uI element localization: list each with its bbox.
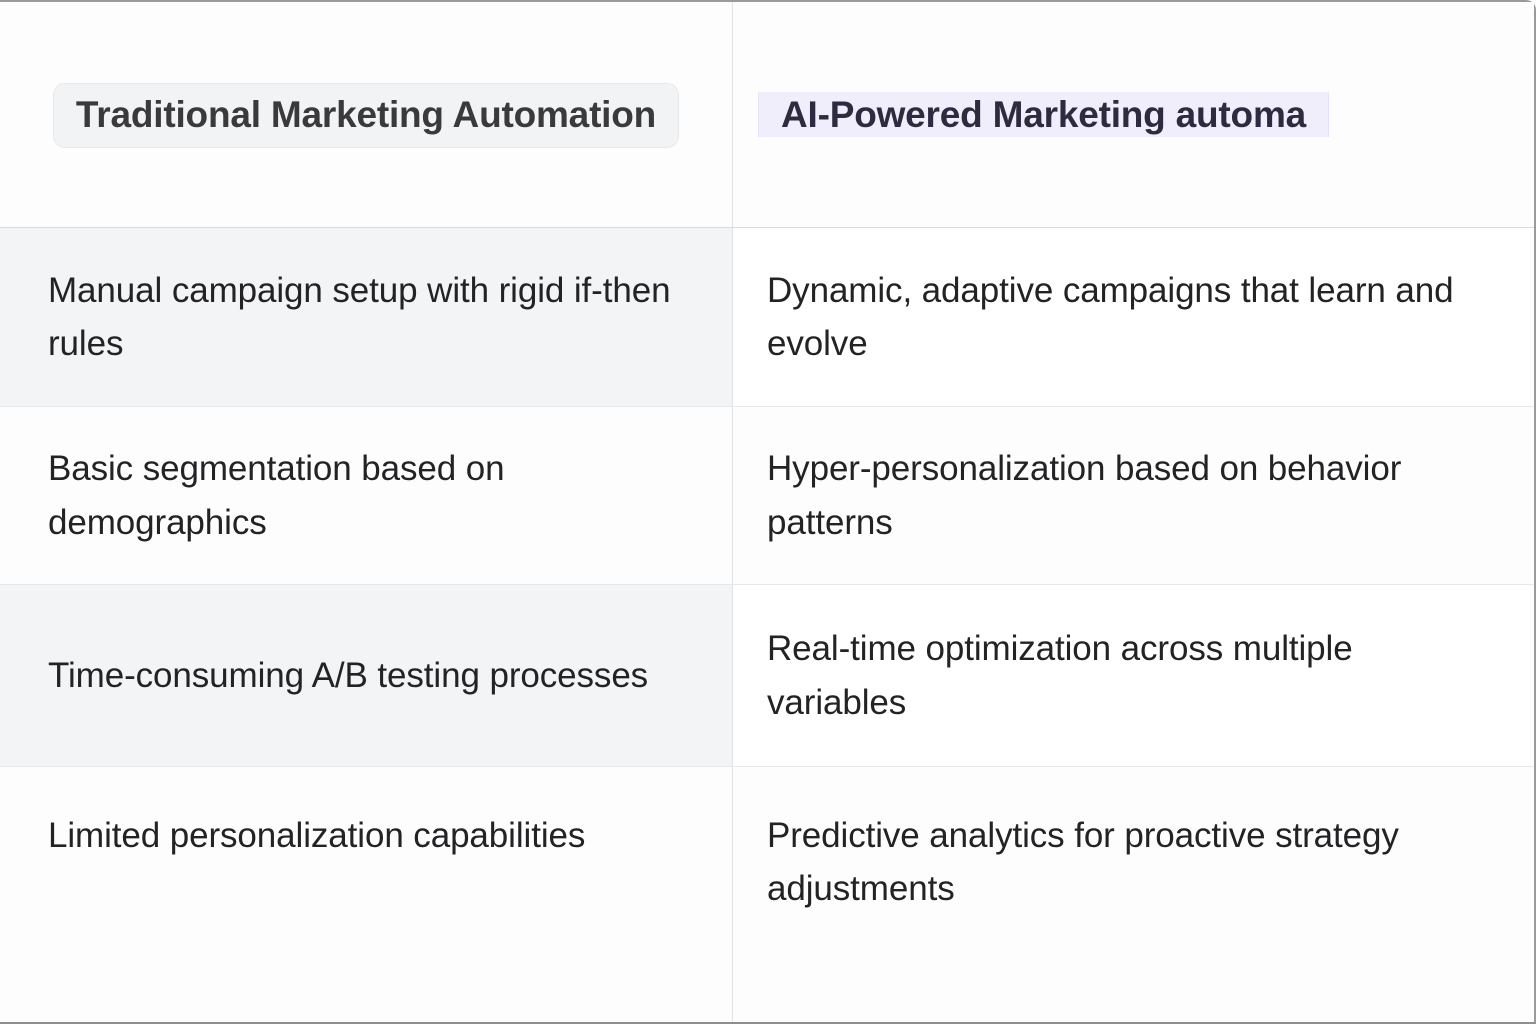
traditional-header-badge: Traditional Marketing Automation <box>54 84 678 147</box>
table-cell-traditional: Time-consuming A/B testing processes <box>0 585 733 766</box>
cell-text: Manual campaign setup with rigid if-then… <box>48 264 692 370</box>
table-body: Manual campaign setup with rigid if-then… <box>0 228 1534 1022</box>
cell-text: Basic segmentation based on demographics <box>48 442 692 548</box>
table-row: Manual campaign setup with rigid if-then… <box>0 228 1534 407</box>
comparison-table: Traditional Marketing Automation AI-Powe… <box>0 0 1536 1024</box>
cell-text: Real-time optimization across multiple v… <box>767 622 1494 728</box>
table-header-row: Traditional Marketing Automation AI-Powe… <box>0 2 1534 228</box>
table-cell-ai-powered: Dynamic, adaptive campaigns that learn a… <box>733 228 1534 406</box>
column-header-traditional: Traditional Marketing Automation <box>0 2 733 227</box>
table-cell-traditional: Manual campaign setup with rigid if-then… <box>0 228 733 406</box>
cell-text: Predictive analytics for proactive strat… <box>767 809 1494 915</box>
table-row: Time-consuming A/B testing processes Rea… <box>0 585 1534 767</box>
ai-header-badge-wrap: AI-Powered Marketing automa <box>751 92 1516 137</box>
cell-text: Limited personalization capabilities <box>48 809 585 862</box>
table-cell-ai-powered: Predictive analytics for proactive strat… <box>733 767 1534 1022</box>
table-cell-ai-powered: Real-time optimization across multiple v… <box>733 585 1534 766</box>
table-row: Limited personalization capabilities Pre… <box>0 767 1534 1022</box>
table-cell-traditional: Limited personalization capabilities <box>0 767 733 1022</box>
table-row: Basic segmentation based on demographics… <box>0 407 1534 585</box>
traditional-header-badge-wrap: Traditional Marketing Automation <box>18 92 714 137</box>
cell-text: Time-consuming A/B testing processes <box>48 649 648 702</box>
cell-text: Hyper-personalization based on behavior … <box>767 442 1494 548</box>
table-cell-ai-powered: Hyper-personalization based on behavior … <box>733 407 1534 584</box>
ai-powered-header-badge: AI-Powered Marketing automa <box>759 92 1328 137</box>
table-cell-traditional: Basic segmentation based on demographics <box>0 407 733 584</box>
column-header-ai-powered: AI-Powered Marketing automa <box>733 2 1534 227</box>
cell-text: Dynamic, adaptive campaigns that learn a… <box>767 264 1494 370</box>
